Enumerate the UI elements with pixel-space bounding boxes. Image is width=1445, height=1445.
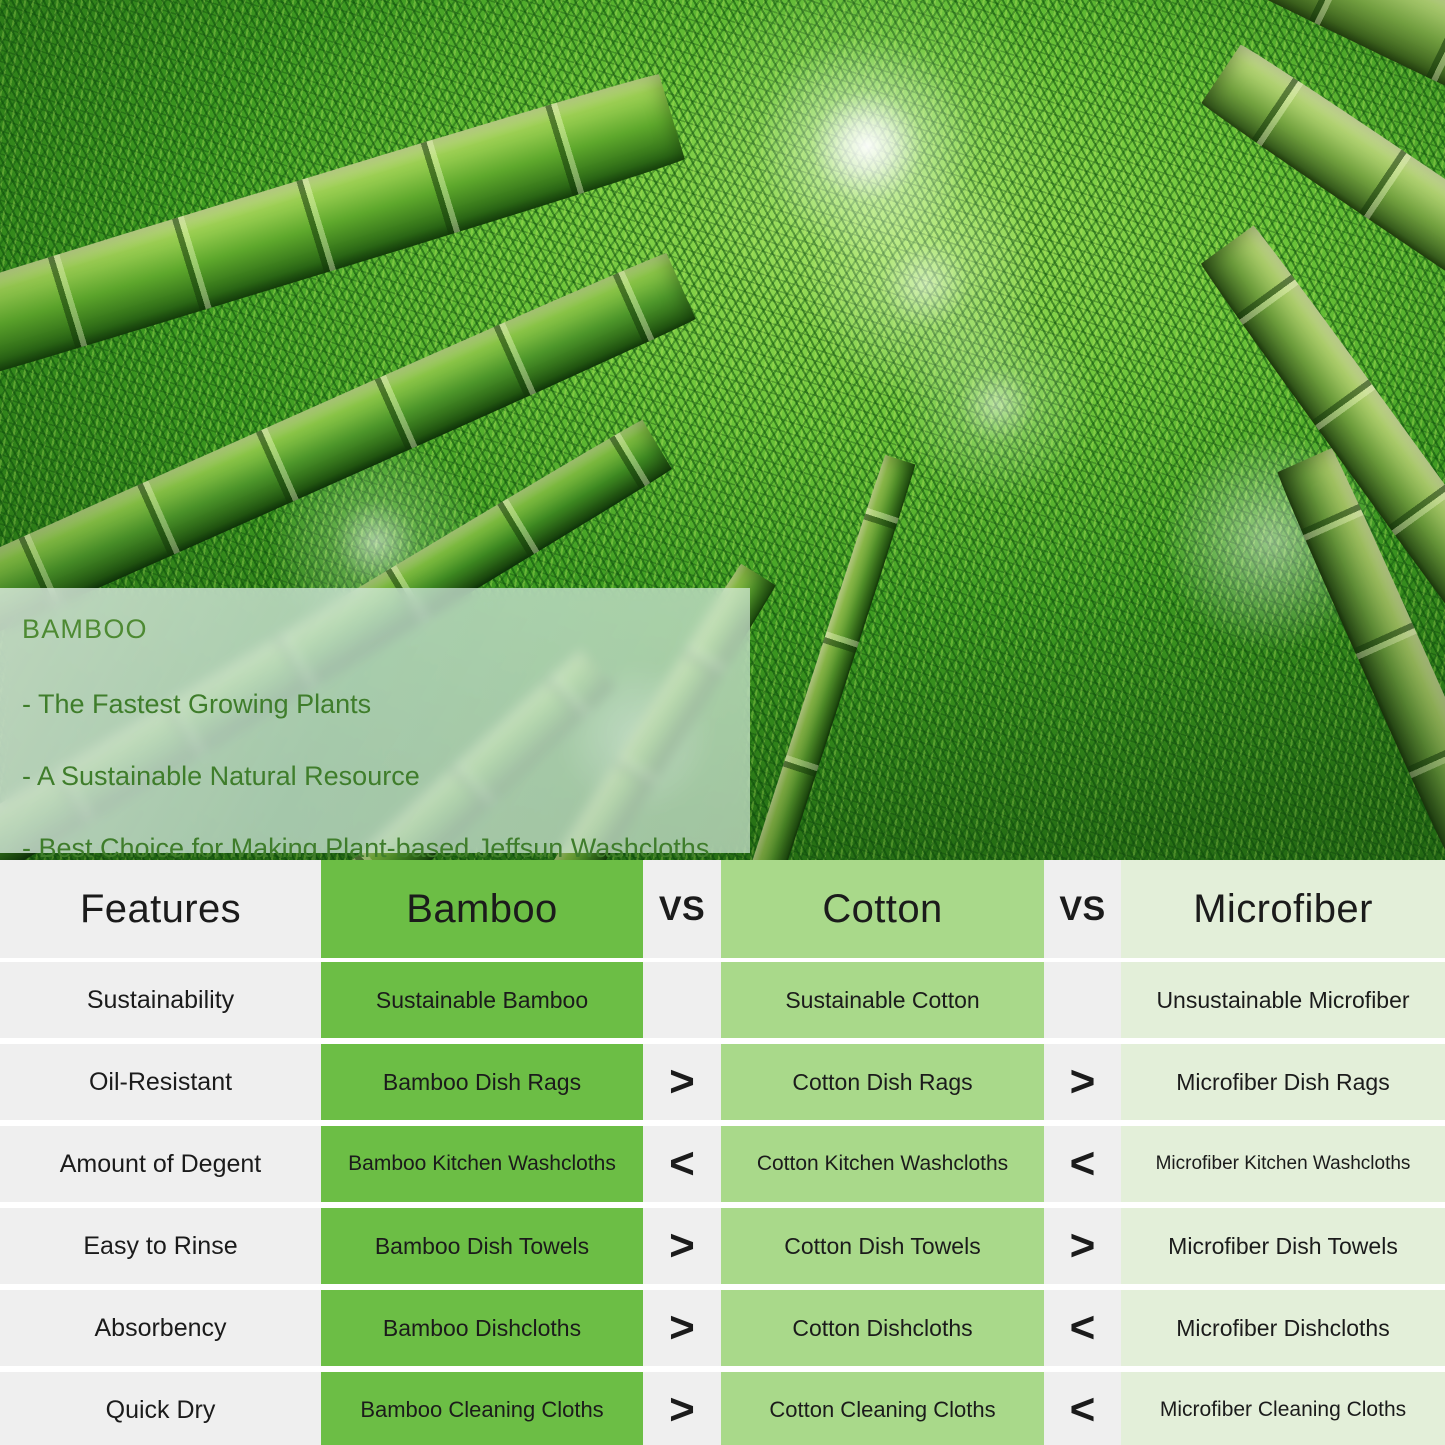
table-row: Absorbency Bamboo Dishcloths > Cotton Di… <box>0 1290 1445 1366</box>
row-feature-label: Easy to Rinse <box>0 1208 321 1284</box>
row-operator-1: > <box>643 1044 721 1120</box>
comparison-table: Features Bamboo VS Cotton VS Microfiber … <box>0 860 1445 1445</box>
row-microfiber-value: Microfiber Dish Rags <box>1121 1044 1445 1120</box>
header-cell-vs-2: VS <box>1044 860 1121 958</box>
row-cotton-value: Cotton Dish Rags <box>721 1044 1044 1120</box>
row-operator-2: < <box>1044 1126 1121 1202</box>
row-cotton-value: Cotton Cleaning Cloths <box>721 1372 1044 1445</box>
table-row: Quick Dry Bamboo Cleaning Cloths > Cotto… <box>0 1372 1445 1445</box>
row-bamboo-value: Bamboo Kitchen Washcloths <box>321 1126 643 1202</box>
bamboo-benefits-overlay: BAMBOO - The Fastest Growing Plants - A … <box>0 588 750 853</box>
row-feature-label: Sustainability <box>0 962 321 1038</box>
row-microfiber-value: Microfiber Cleaning Cloths <box>1121 1372 1445 1445</box>
row-cotton-value: Sustainable Cotton <box>721 962 1044 1038</box>
header-cell-cotton: Cotton <box>721 860 1044 958</box>
row-cotton-value: Cotton Kitchen Washcloths <box>721 1126 1044 1202</box>
bamboo-forest-hero-image: BAMBOO - The Fastest Growing Plants - A … <box>0 0 1445 860</box>
row-microfiber-value: Microfiber Dish Towels <box>1121 1208 1445 1284</box>
overlay-title: BAMBOO <box>22 616 750 643</box>
table-header-row: Features Bamboo VS Cotton VS Microfiber <box>0 860 1445 958</box>
row-operator-2: < <box>1044 1290 1121 1366</box>
row-operator-1: > <box>643 1372 721 1445</box>
row-operator-1: > <box>643 1290 721 1366</box>
row-bamboo-value: Bamboo Cleaning Cloths <box>321 1372 643 1445</box>
row-bamboo-value: Bamboo Dishcloths <box>321 1290 643 1366</box>
row-feature-label: Amount of Degent <box>0 1126 321 1202</box>
row-operator-2: > <box>1044 1044 1121 1120</box>
product-comparison-infographic: BAMBOO - The Fastest Growing Plants - A … <box>0 0 1445 1445</box>
row-operator-1 <box>643 962 721 1038</box>
row-microfiber-value: Microfiber Dishcloths <box>1121 1290 1445 1366</box>
row-microfiber-value: Unsustainable Microfiber <box>1121 962 1445 1038</box>
overlay-bullet-3: - Best Choice for Making Plant-based Jef… <box>22 835 750 860</box>
row-feature-label: Oil-Resistant <box>0 1044 321 1120</box>
row-cotton-value: Cotton Dishcloths <box>721 1290 1044 1366</box>
table-row: Sustainability Sustainable Bamboo Sustai… <box>0 962 1445 1038</box>
overlay-bullet-2: - A Sustainable Natural Resource <box>22 763 750 790</box>
row-operator-2 <box>1044 962 1121 1038</box>
row-operator-1: > <box>643 1208 721 1284</box>
row-operator-1: < <box>643 1126 721 1202</box>
row-bamboo-value: Bamboo Dish Towels <box>321 1208 643 1284</box>
header-cell-features: Features <box>0 860 321 958</box>
row-bamboo-value: Bamboo Dish Rags <box>321 1044 643 1120</box>
row-feature-label: Quick Dry <box>0 1372 321 1445</box>
header-cell-vs-1: VS <box>643 860 721 958</box>
row-operator-2: < <box>1044 1372 1121 1445</box>
row-feature-label: Absorbency <box>0 1290 321 1366</box>
header-cell-bamboo: Bamboo <box>321 860 643 958</box>
row-microfiber-value: Microfiber Kitchen Washcloths <box>1121 1126 1445 1202</box>
table-row: Oil-Resistant Bamboo Dish Rags > Cotton … <box>0 1044 1445 1120</box>
overlay-bullet-1: - The Fastest Growing Plants <box>22 691 750 718</box>
header-cell-microfiber: Microfiber <box>1121 860 1445 958</box>
row-bamboo-value: Sustainable Bamboo <box>321 962 643 1038</box>
row-operator-2: > <box>1044 1208 1121 1284</box>
table-row: Easy to Rinse Bamboo Dish Towels > Cotto… <box>0 1208 1445 1284</box>
table-row: Amount of Degent Bamboo Kitchen Washclot… <box>0 1126 1445 1202</box>
row-cotton-value: Cotton Dish Towels <box>721 1208 1044 1284</box>
